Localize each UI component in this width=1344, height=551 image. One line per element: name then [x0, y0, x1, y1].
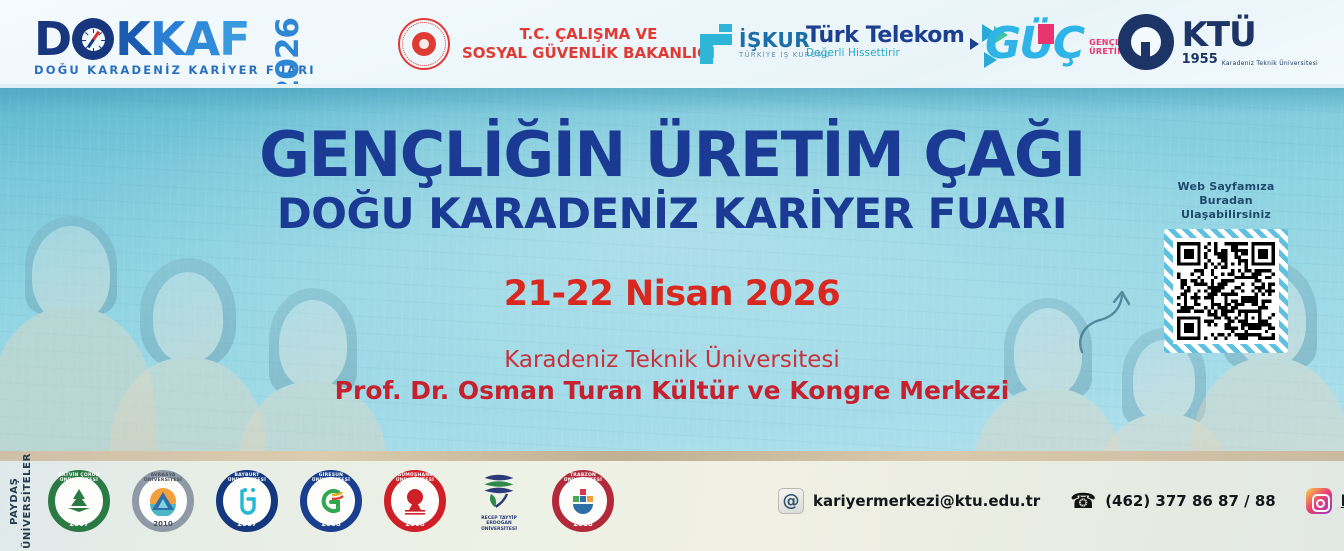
- university-logo-trabzon: TRABZON ÜNİVERSİTESİ 2018: [552, 470, 614, 532]
- university-name-giresun: GİRESUN ÜNİVERSİTESİ: [300, 473, 362, 483]
- contact-email-text[interactable]: kariyermerkezi@ktu.edu.tr: [813, 492, 1040, 510]
- qr-code-icon[interactable]: [1177, 242, 1275, 340]
- dokkaf-logo: D: [34, 16, 304, 78]
- university-name-trabzon: TRABZON ÜNİVERSİTESİ: [552, 473, 614, 483]
- university-logo-artvin-coruh: ARTVİN ÇORUH ÜNİVERSİTESİ 2007: [48, 470, 110, 532]
- ktu-abbreviation: KTÜ: [1182, 18, 1318, 52]
- qr-inner: [1173, 238, 1279, 344]
- guc-accent-block: [1038, 24, 1054, 44]
- qr-frame: [1164, 229, 1288, 353]
- qr-block[interactable]: Web Sayfamıza Buradan Ulaşabilirsiniz: [1156, 180, 1296, 353]
- turk-telekom-slogan: Değerli Hissettirir: [806, 47, 964, 59]
- university-name-artvin-coruh: ARTVİN ÇORUH ÜNİVERSİTESİ: [48, 473, 110, 483]
- ktu-mark-icon: [1118, 14, 1174, 70]
- university-logo-avrasya: AVRASYA ÜNİVERSİTESİ 2010: [132, 470, 194, 532]
- waves-leaf-emblem-icon: [474, 470, 524, 515]
- qr-label-line-1: Web Sayfamıza: [1156, 180, 1296, 194]
- contact-phone[interactable]: ☎ (462) 377 86 87 / 88: [1070, 488, 1276, 514]
- dokkaf-letter-k2: K: [150, 16, 185, 62]
- contact-phone-text[interactable]: (462) 377 86 87 / 88: [1105, 492, 1276, 510]
- letter-b-emblem-icon: [232, 486, 262, 516]
- university-name-avrasya: AVRASYA ÜNİVERSİTESİ: [132, 473, 194, 483]
- ministry-logo: T.C. ÇALIŞMA VE SOSYAL GÜVENLİK BAKANLIĞ…: [398, 18, 715, 70]
- poster-root: D: [0, 0, 1344, 551]
- university-year-gumushane: 2008: [384, 520, 446, 528]
- turk-telekom-name: Türk Telekom: [806, 24, 964, 47]
- guc-wordmark: GÜÇ: [985, 22, 1083, 66]
- university-year-avrasya: 2010: [132, 520, 194, 528]
- turk-telekom-logo: Türk Telekom Değerli Hissettirir: [806, 24, 1012, 70]
- banner-subheadline: DOĞU KARADENİZ KARİYER FUARI: [0, 191, 1344, 237]
- dokkaf-letter-f: F: [219, 16, 249, 62]
- qr-label-line-2: Buradan Ulaşabilirsiniz: [1156, 194, 1296, 222]
- ministry-name: T.C. ÇALIŞMA VE SOSYAL GÜVENLİK BAKANLIĞ…: [462, 25, 715, 63]
- banner-headline: GENÇLİĞİN ÜRETİM ÇAĞI: [0, 122, 1344, 188]
- ministry-line-2: SOSYAL GÜVENLİK BAKANLIĞI: [462, 44, 715, 63]
- contact-instagram[interactable]: ktukariyermerkezi: [1306, 488, 1344, 514]
- sponsor-header-bar: D: [0, 0, 1344, 88]
- university-logo-giresun: GİRESUN ÜNİVERSİTESİ 2008: [300, 470, 362, 532]
- ministry-line-1: T.C. ÇALIŞMA VE: [462, 25, 715, 44]
- dokkaf-letter-k1: K: [115, 16, 150, 62]
- mosaic-square-emblem-icon: [568, 486, 598, 516]
- leaf-g-emblem-icon: [316, 486, 346, 516]
- dokkaf-year: 2026: [270, 18, 306, 88]
- ktu-full-name: Karadeniz Teknik Üniversitesi: [1222, 60, 1318, 67]
- partner-universities-list: ARTVİN ÇORUH ÜNİVERSİTESİ 2007 AVRASYA Ü…: [48, 470, 614, 532]
- university-logo-gumushane: GÜMÜŞHANE ÜNİVERSİTESİ 2008: [384, 470, 446, 532]
- contact-email[interactable]: @ kariyermerkezi@ktu.edu.tr: [778, 488, 1040, 514]
- dokkaf-subtitle: DOĞU KARADENİZ KARİYER FUARI: [34, 63, 304, 77]
- dokkaf-wordmark: D: [34, 16, 304, 62]
- qr-label: Web Sayfamıza Buradan Ulaşabilirsiniz: [1156, 180, 1296, 222]
- contact-info: @ kariyermerkezi@ktu.edu.tr ☎ (462) 377 …: [778, 488, 1344, 514]
- university-name-bayburt: BAYBURT ÜNİVERSİTESİ: [216, 473, 278, 483]
- university-year-trabzon: 2018: [552, 520, 614, 528]
- tree-book-emblem-icon: [64, 486, 94, 516]
- dome-emblem-icon: [400, 486, 430, 516]
- iskur-mark-icon: [700, 24, 732, 64]
- university-name-gumushane: GÜMÜŞHANE ÜNİVERSİTESİ: [384, 473, 446, 483]
- university-year-artvin-coruh: 2007: [48, 520, 110, 528]
- partners-label: PAYDAŞ ÜNİVERSİTELER: [8, 453, 34, 549]
- instagram-icon: [1306, 488, 1332, 514]
- compass-rose-icon: [72, 18, 114, 60]
- dokkaf-letter-d: D: [34, 16, 71, 62]
- banner-venue-hall: Prof. Dr. Osman Turan Kültür ve Kongre M…: [0, 376, 1344, 406]
- mountain-triangle-emblem-icon: [148, 486, 178, 516]
- curved-arrow-icon: [1074, 284, 1144, 356]
- footer-bar: PAYDAŞ ÜNİVERSİTELER ARTVİN ÇORUH ÜNİVER…: [0, 451, 1344, 551]
- university-logo-recep-tayyip-erdogan: RECEP TAYYİP ERDOĞAN ÜNİVERSİTESİ: [468, 470, 530, 532]
- university-name-recep-tayyip-erdogan: RECEP TAYYİP ERDOĞAN ÜNİVERSİTESİ: [468, 516, 530, 532]
- guc-word-text: GÜÇ: [985, 18, 1083, 69]
- ktu-logo: KTÜ 1955 Karadeniz Teknik Üniversitesi: [1118, 14, 1318, 70]
- turkish-state-emblem-icon: [398, 18, 450, 70]
- university-logo-bayburt: BAYBURT ÜNİVERSİTESİ 2007: [216, 470, 278, 532]
- university-year-giresun: 2008: [300, 520, 362, 528]
- telephone-icon: ☎: [1070, 488, 1096, 514]
- university-year-bayburt: 2007: [216, 520, 278, 528]
- main-banner: GENÇLİĞİN ÜRETİM ÇAĞI DOĞU KARADENİZ KAR…: [0, 88, 1344, 451]
- dokkaf-letter-a: A: [185, 16, 220, 62]
- ktu-founding-year: 1955: [1182, 52, 1218, 67]
- at-sign-icon: @: [778, 488, 804, 514]
